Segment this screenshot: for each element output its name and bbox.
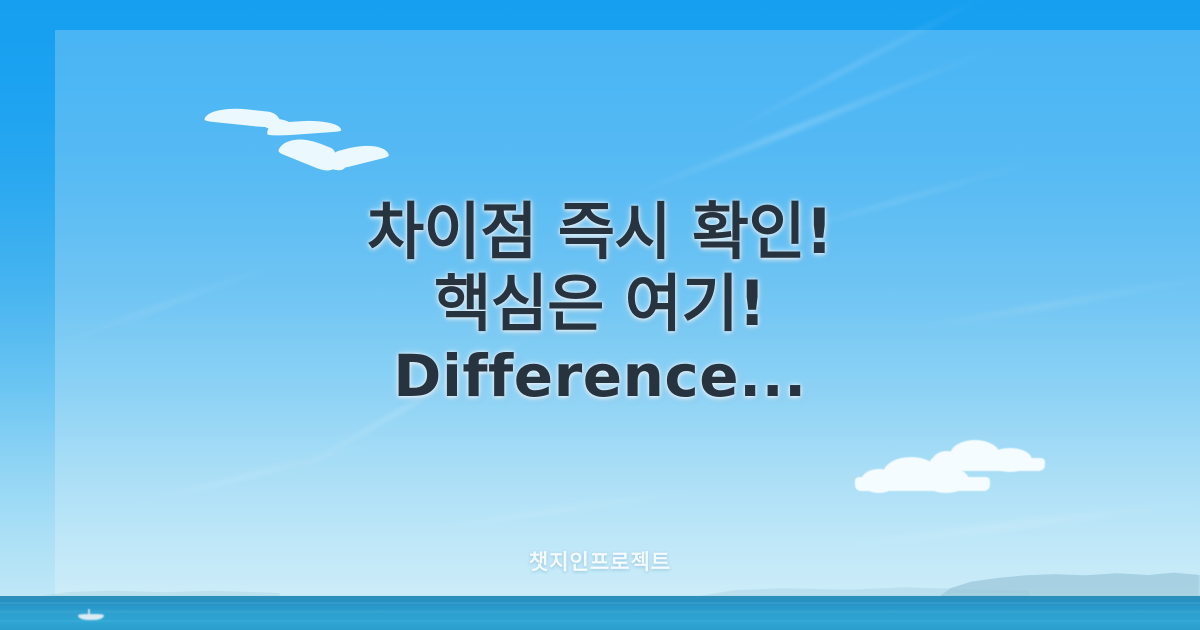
seagull-icon <box>205 105 340 145</box>
cloud-puff <box>988 448 1032 472</box>
seagull-icon <box>280 140 390 180</box>
cloud-puff <box>923 467 969 493</box>
title-line-1: 차이점 즉시 확인! <box>0 196 1200 268</box>
seagull-wing-right <box>329 139 390 170</box>
ocean-band <box>0 610 1200 613</box>
cloud-puff <box>861 469 897 493</box>
title-line-2: 핵심은 여기! <box>0 268 1200 340</box>
ocean-band <box>0 602 1200 604</box>
title-line-3: Difference... <box>0 340 1200 412</box>
share-image-canvas: 차이점 즉시 확인! 핵심은 여기! Difference... 챗지인프로젝트 <box>0 0 1200 630</box>
page-title: 차이점 즉시 확인! 핵심은 여기! Difference... <box>0 196 1200 412</box>
ocean <box>0 596 1200 630</box>
ocean-band <box>0 620 1200 622</box>
cloud-icon <box>855 455 990 490</box>
watermark-text: 챗지인프로젝트 <box>0 546 1200 576</box>
small-boat-mast <box>88 609 90 615</box>
